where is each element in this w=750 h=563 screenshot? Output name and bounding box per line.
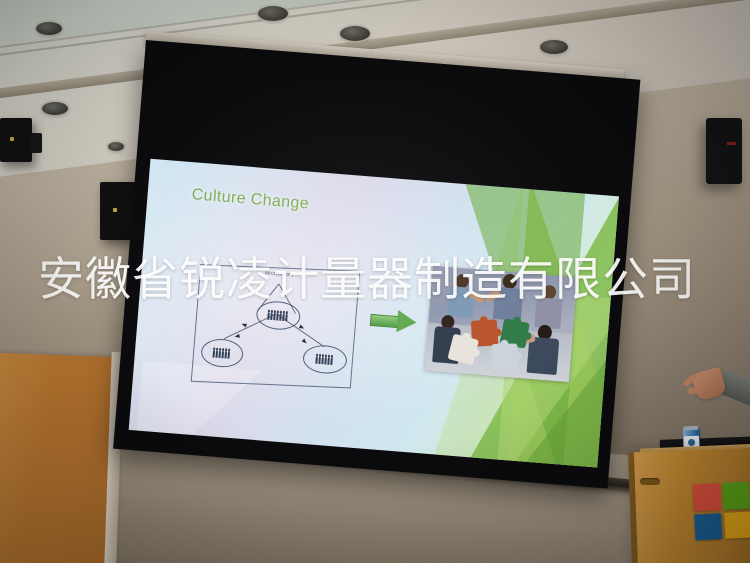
- arrow-shaft: [370, 314, 400, 328]
- siloed-org-diagram: MICROSOFT: [191, 261, 360, 391]
- diagram-group-top: [255, 300, 299, 329]
- green-right-arrow-icon: [370, 309, 417, 333]
- microsoft-logo: [693, 482, 750, 541]
- teamwork-jigsaw-photo: [424, 266, 577, 382]
- ms-logo-blue-square: [694, 513, 722, 541]
- wooden-door[interactable]: [0, 353, 120, 563]
- diagram-group-right: [302, 344, 346, 373]
- ms-logo-yellow-square: [724, 511, 750, 539]
- wall-speaker-right: [706, 118, 742, 184]
- person-body: [527, 337, 560, 375]
- speaker-led-icon: [113, 208, 117, 212]
- group-people-icon: [213, 350, 230, 358]
- downlight-icon: [42, 102, 68, 115]
- ms-logo-red-square: [693, 483, 721, 511]
- downlight-icon: [36, 22, 62, 35]
- downlight-icon: [108, 142, 124, 151]
- downlight-icon: [540, 40, 568, 54]
- diagram-group-left: [200, 337, 242, 366]
- can-lid: [684, 426, 699, 431]
- speaker-led-icon: [10, 137, 14, 141]
- arrow-head: [396, 310, 417, 333]
- group-people-icon: [267, 313, 287, 322]
- puzzle-piece-lightblue: [491, 343, 518, 370]
- speaker-led-icon: [727, 142, 736, 145]
- photo-person: [522, 319, 566, 378]
- group-people-icon: [315, 357, 332, 365]
- thumb: [687, 387, 701, 395]
- projected-slide: Culture Change MICROSOFT: [129, 159, 619, 468]
- podium-handle[interactable]: [640, 478, 660, 485]
- diagram-arrow-icon: [234, 334, 240, 339]
- room-photo-scene: Culture Change MICROSOFT: [0, 0, 750, 563]
- downlight-icon: [340, 26, 370, 41]
- downlight-icon: [258, 6, 288, 21]
- wall-speaker-left: [0, 118, 32, 162]
- projection-screen: Culture Change MICROSOFT: [113, 40, 640, 488]
- ms-logo-green-square: [722, 482, 750, 510]
